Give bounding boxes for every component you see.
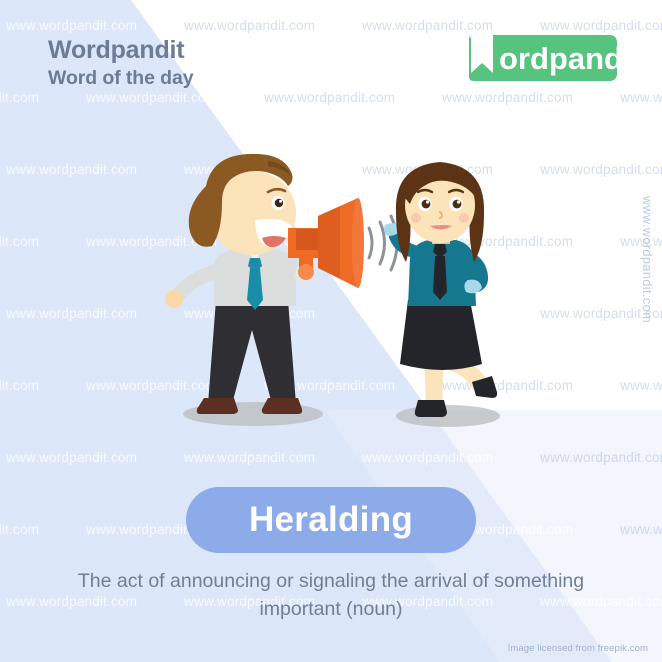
word-term: Heralding [249,500,413,540]
megaphone-icon [288,198,397,288]
man-hand-left [165,290,183,308]
illustration [0,0,662,662]
man-eye-pupil [275,199,283,207]
word-pill: Heralding [186,487,476,553]
woman-eye-right-pupil [453,200,462,209]
man-shoe-right [262,398,302,414]
man-pants [208,300,296,404]
man-shoe-left [197,398,238,414]
image-credit: Image licensed from freepik.com [508,643,648,654]
woman-eye-left-pupil [422,200,431,209]
logo-text: ordpandit [499,41,619,76]
header: Wordpandit Word of the day [48,36,193,90]
word-of-the-day-card: www.wordpandit.comwww.wordpandit.comwww.… [0,0,662,662]
woman-skirt [400,300,482,370]
woman-shadow [396,405,500,427]
side-watermark: www.wordpandit.com [640,196,654,323]
woman-shoe-front [415,400,447,417]
brand-title: Wordpandit [48,36,193,65]
woman-listener [384,162,497,417]
brand-subtitle: Word of the day [48,66,193,90]
man-announcer [165,154,314,414]
woman-tie [433,256,447,300]
word-definition: The act of announcing or signaling the a… [40,568,622,623]
wordpandit-logo[interactable]: ordpandit [453,33,619,83]
